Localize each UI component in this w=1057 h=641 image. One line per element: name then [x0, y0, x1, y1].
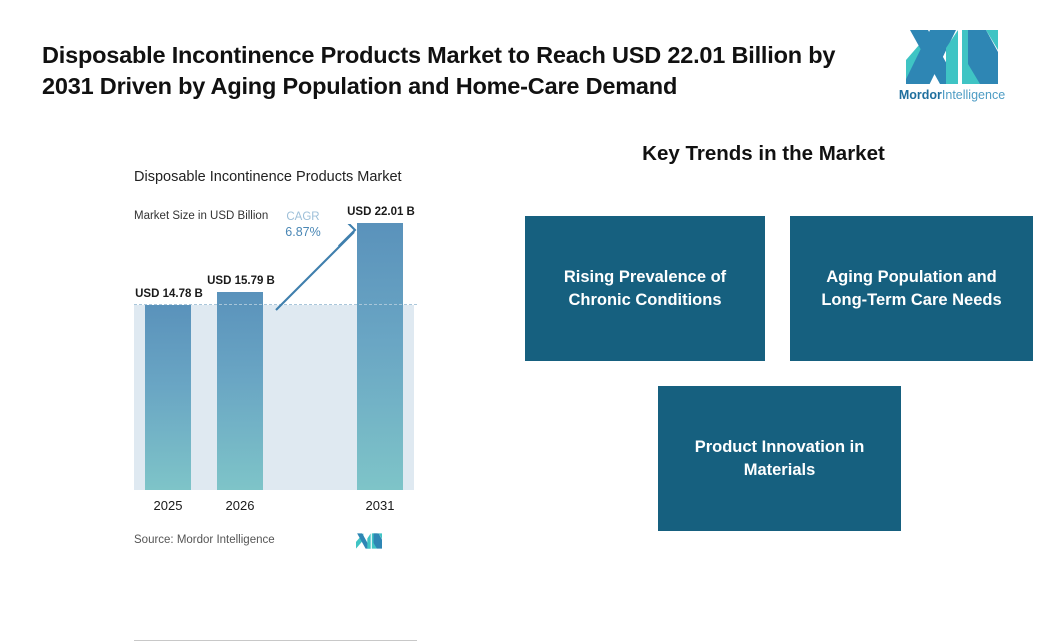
trend-card-rising-prevalence[interactable]: Rising Prevalence of Chronic Conditions	[525, 216, 765, 361]
page-header: Disposable Incontinence Products Market …	[0, 0, 1057, 120]
bar-value-label-2031: USD 22.01 B	[322, 206, 440, 218]
chart-source-text: Source: Mordor Intelligence	[134, 534, 275, 546]
key-trends-panel: Key Trends in the Market Rising Prevalen…	[470, 120, 1057, 570]
trend-card-label: Rising Prevalence of Chronic Conditions	[525, 266, 765, 312]
mordor-intelligence-logo: MordorIntelligence	[898, 30, 1006, 106]
x-tick-2025: 2025	[133, 498, 203, 513]
mordor-m-mark-small-icon	[356, 532, 382, 550]
trend-card-product-innovation[interactable]: Product Innovation in Materials	[658, 386, 901, 531]
chart-subtitle: Market Size in USD Billion	[134, 210, 268, 222]
market-size-chart: Disposable Incontinence Products Market …	[0, 120, 470, 570]
cagr-label: CAGR	[272, 210, 334, 225]
trend-card-label: Product Innovation in Materials	[658, 436, 901, 482]
trend-card-aging-population[interactable]: Aging Population and Long-Term Care Need…	[790, 216, 1033, 361]
bar-value-label-2025: USD 14.78 B	[110, 288, 228, 300]
mordor-wordmark: MordorIntelligence	[898, 88, 1006, 102]
trends-heading: Key Trends in the Market	[470, 142, 1057, 166]
chart-title: Disposable Incontinence Products Market	[134, 168, 414, 187]
x-axis-tick-labels: 2025 2026 2031	[134, 498, 417, 520]
bar-2025	[145, 305, 191, 490]
cagr-growth-arrow-icon	[274, 224, 364, 312]
page-title: Disposable Incontinence Products Market …	[42, 40, 872, 102]
brand-name-bold: Mordor	[899, 88, 942, 102]
bar-2026	[217, 292, 263, 490]
x-tick-2031: 2031	[345, 498, 415, 513]
brand-name-light: Intelligence	[942, 88, 1005, 102]
x-tick-2026: 2026	[205, 498, 275, 513]
chart-source-row: Source: Mordor Intelligence	[134, 532, 394, 554]
mordor-m-mark-icon	[906, 30, 998, 84]
chart-plot-area: USD 14.78 B USD 15.79 B USD 22.01 B CAGR…	[134, 270, 414, 490]
trend-card-label: Aging Population and Long-Term Care Need…	[790, 266, 1033, 312]
